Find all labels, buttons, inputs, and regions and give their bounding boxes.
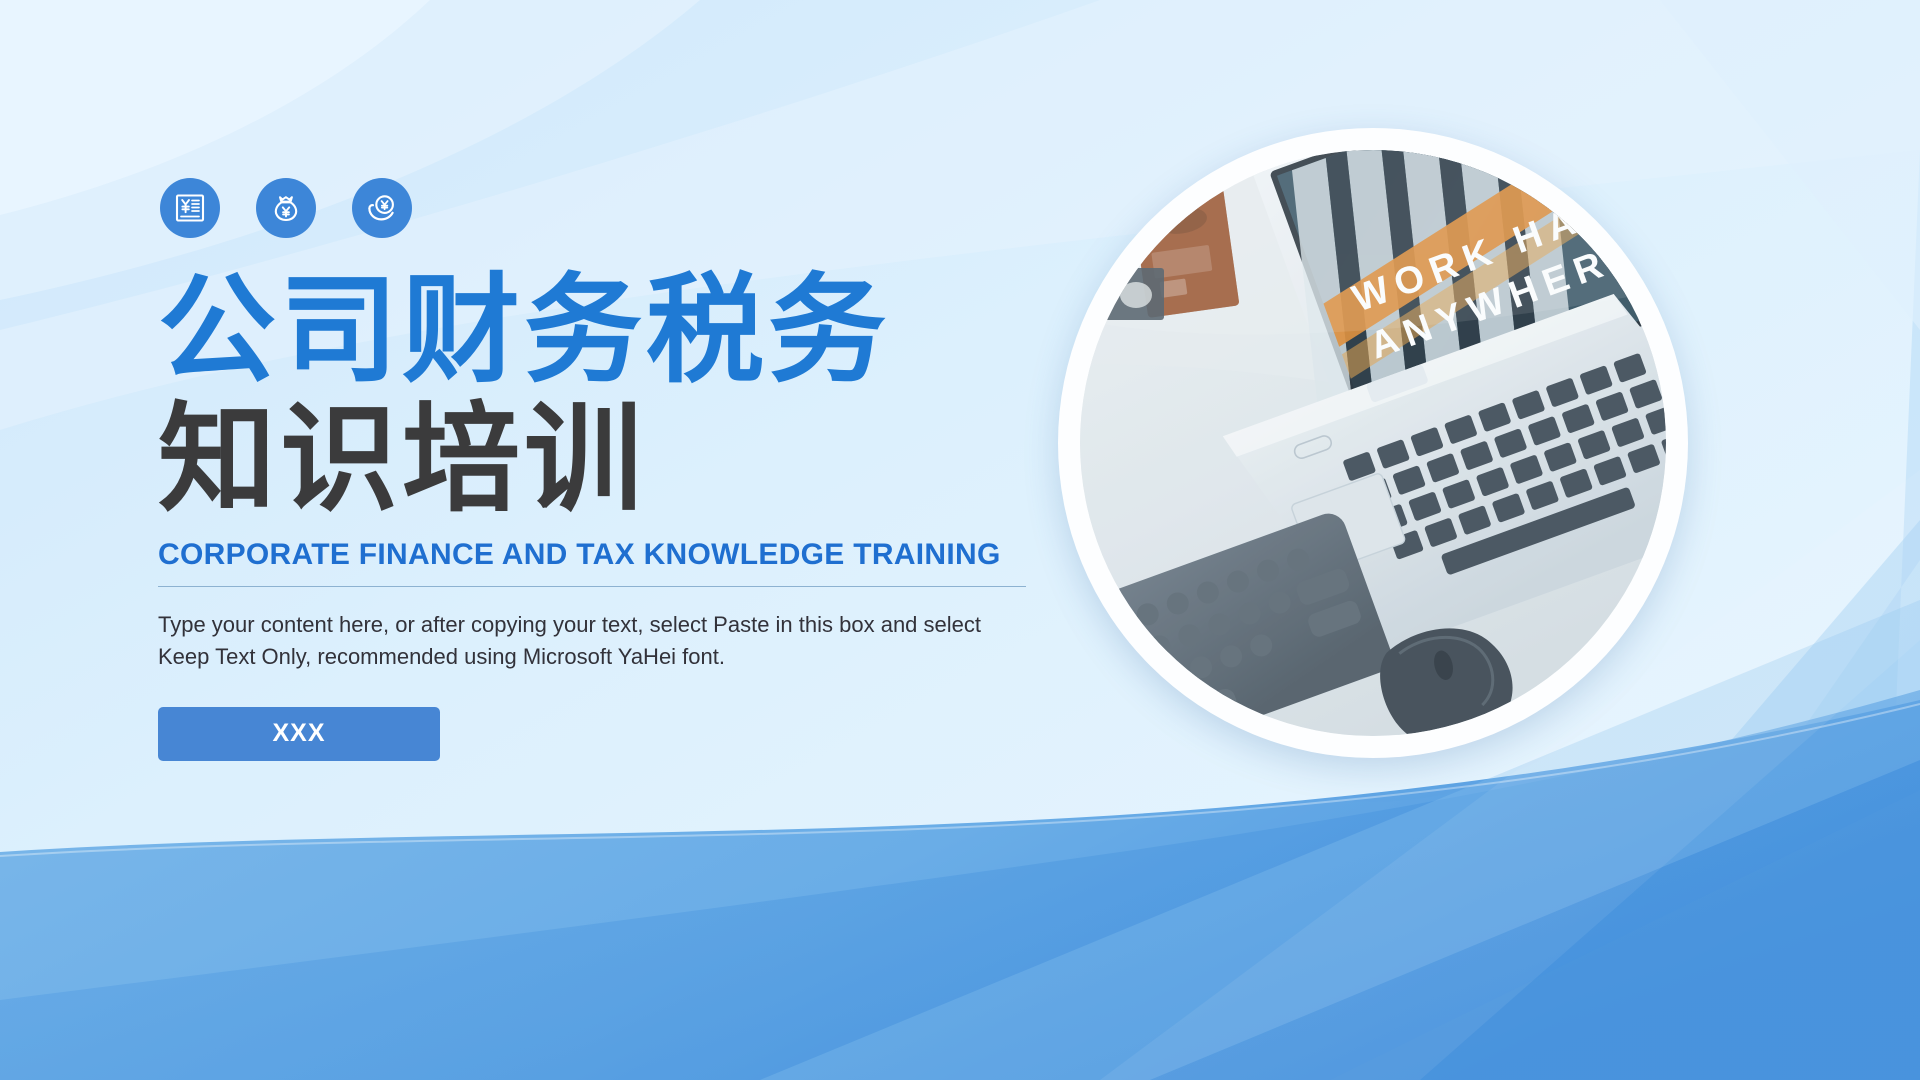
circular-photo-frame: WORK HARD ANYWHERE hp [1058, 128, 1688, 758]
hand-holding-yen-glyph [365, 191, 399, 225]
money-bag-yen-glyph [269, 191, 303, 225]
title-text-block: 公司财务税务 知识培训 CORPORATE FINANCE AND TAX KN… [158, 268, 1098, 761]
page-title-line-1: 公司财务税务 [158, 268, 1098, 393]
page-title-line-2: 知识培训 [158, 397, 1098, 522]
icon-row [160, 178, 412, 238]
presentation-slide: 公司财务税务 知识培训 CORPORATE FINANCE AND TAX KN… [0, 0, 1920, 1080]
invoice-yen-icon[interactable] [160, 178, 220, 238]
hand-holding-yen-icon[interactable] [352, 178, 412, 238]
desk-laptop-illustration: WORK HARD ANYWHERE hp [1080, 150, 1666, 736]
desk-laptop-photo: WORK HARD ANYWHERE hp [1080, 150, 1666, 736]
body-paragraph: Type your content here, or after copying… [158, 609, 988, 673]
page-subtitle-english: CORPORATE FINANCE AND TAX KNOWLEDGE TRAI… [158, 538, 1098, 572]
title-divider [158, 586, 1026, 587]
money-bag-yen-icon[interactable] [256, 178, 316, 238]
invoice-yen-glyph [173, 191, 207, 225]
cta-button[interactable]: XXX [158, 707, 440, 761]
